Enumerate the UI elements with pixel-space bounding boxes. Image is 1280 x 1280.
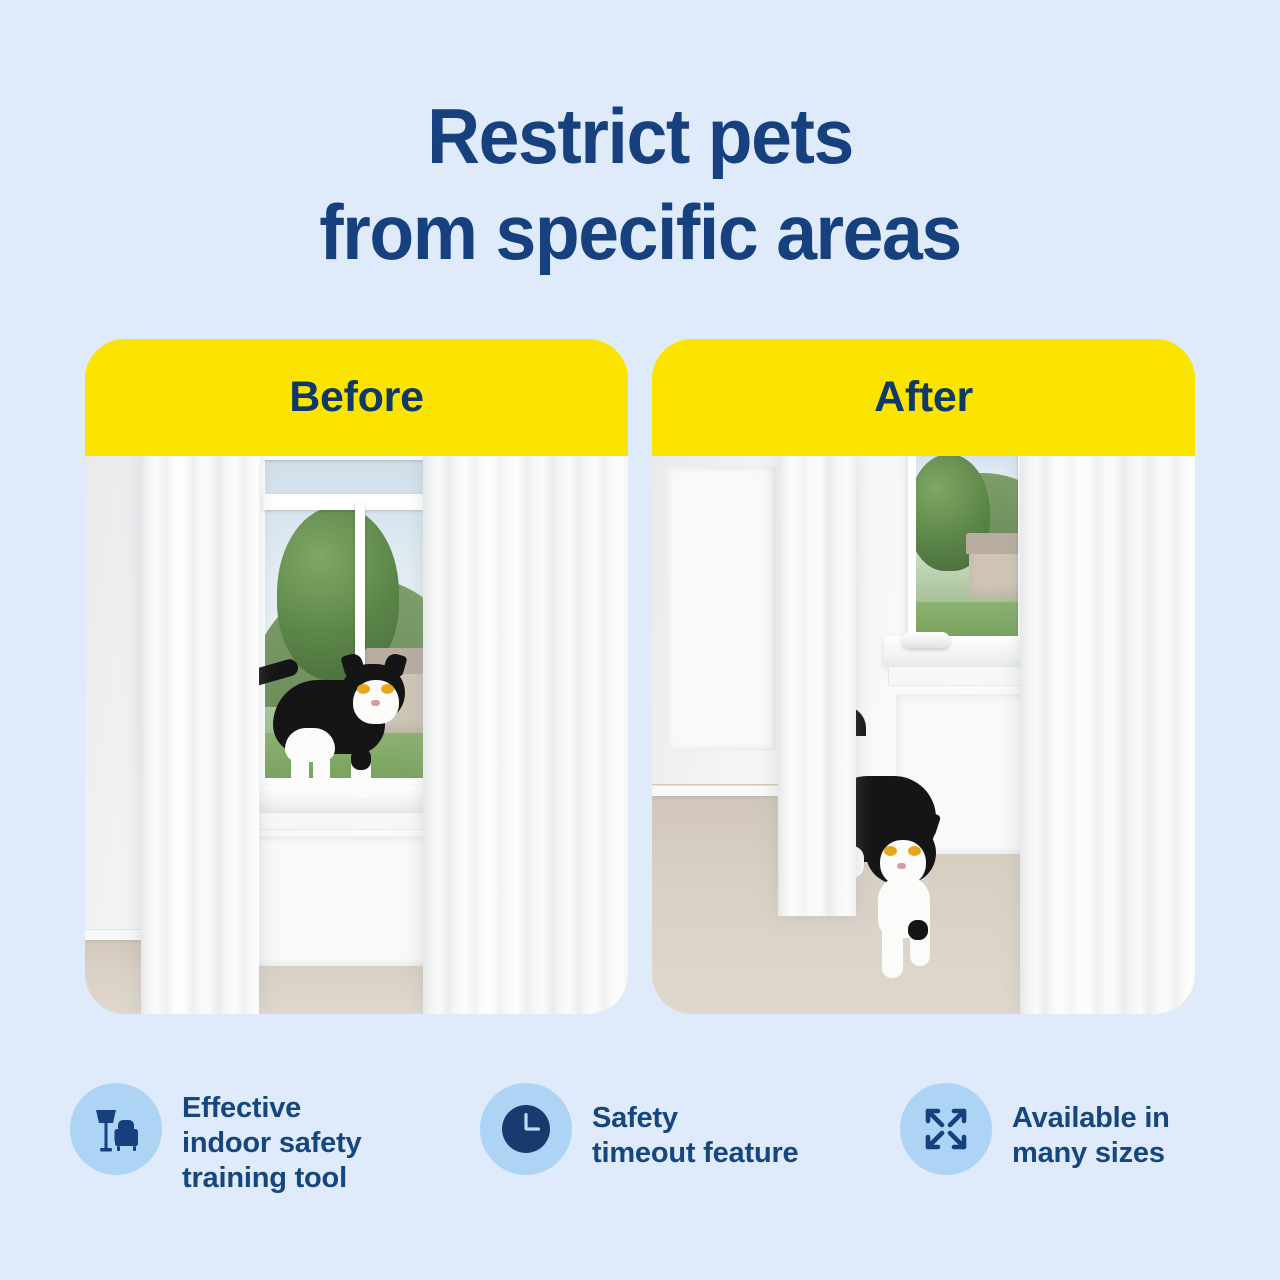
pet-deterrent-device — [902, 632, 950, 648]
feature-item-many-sizes: Available in many sizes — [900, 1083, 1220, 1175]
cat-leg-marking — [908, 920, 928, 940]
feature-label-line-1: Effective — [182, 1092, 301, 1124]
feature-label-line-1: Safety — [592, 1102, 678, 1134]
feature-label: Safety timeout feature — [592, 1083, 798, 1171]
feature-item-training-tool: Effective indoor safety training tool — [70, 1083, 480, 1196]
after-photo — [652, 456, 1195, 1014]
cat-eye-right — [381, 684, 394, 694]
after-card: After — [652, 339, 1195, 1014]
cat-front-leg-left — [291, 750, 309, 790]
feature-item-safety-timeout: Safety timeout feature — [480, 1083, 900, 1175]
feature-label-line-2: indoor safety — [182, 1127, 362, 1159]
curtain-right — [1020, 456, 1195, 1014]
before-after-comparison: Before — [85, 339, 1195, 1014]
page-title: Restrict pets from specific areas — [38, 88, 1241, 280]
before-label: Before — [289, 373, 423, 422]
feature-label: Effective indoor safety training tool — [182, 1083, 362, 1196]
cat-front-leg-right — [313, 754, 330, 792]
feature-label-line-1: Available in — [1012, 1102, 1170, 1134]
curtain-left — [778, 456, 856, 916]
cat-front-leg-left — [882, 920, 903, 978]
before-card-header: Before — [85, 339, 628, 456]
page-title-line-2: from specific areas — [38, 184, 1241, 280]
feature-label-line-3: training tool — [182, 1162, 347, 1194]
after-label: After — [874, 373, 973, 422]
cat-nose — [897, 863, 906, 869]
cat-on-sill — [233, 654, 423, 800]
page-title-line-1: Restrict pets — [38, 88, 1241, 184]
before-card: Before — [85, 339, 628, 1014]
feature-label-line-2: timeout feature — [592, 1137, 798, 1169]
cat-eye-left — [357, 684, 370, 694]
cat-eye-left — [884, 846, 897, 856]
feature-label: Available in many sizes — [1012, 1083, 1170, 1171]
wall-moulding-panel — [666, 466, 776, 751]
cat-nose — [371, 700, 380, 706]
feature-label-line-2: many sizes — [1012, 1137, 1165, 1169]
curtain-right — [423, 456, 628, 1014]
cat-eye-right — [908, 846, 921, 856]
clock-icon — [480, 1083, 572, 1175]
expand-arrows-icon — [900, 1083, 992, 1175]
lamp-armchair-icon — [70, 1083, 162, 1175]
cat-hind-leg-marking — [351, 748, 371, 770]
infographic-page: Restrict pets from specific areas Before — [0, 0, 1280, 1280]
after-card-header: After — [652, 339, 1195, 456]
curtain-left — [141, 456, 259, 1014]
feature-list: Effective indoor safety training tool Sa… — [70, 1083, 1220, 1196]
before-photo — [85, 456, 628, 1014]
baseboard — [652, 785, 792, 796]
